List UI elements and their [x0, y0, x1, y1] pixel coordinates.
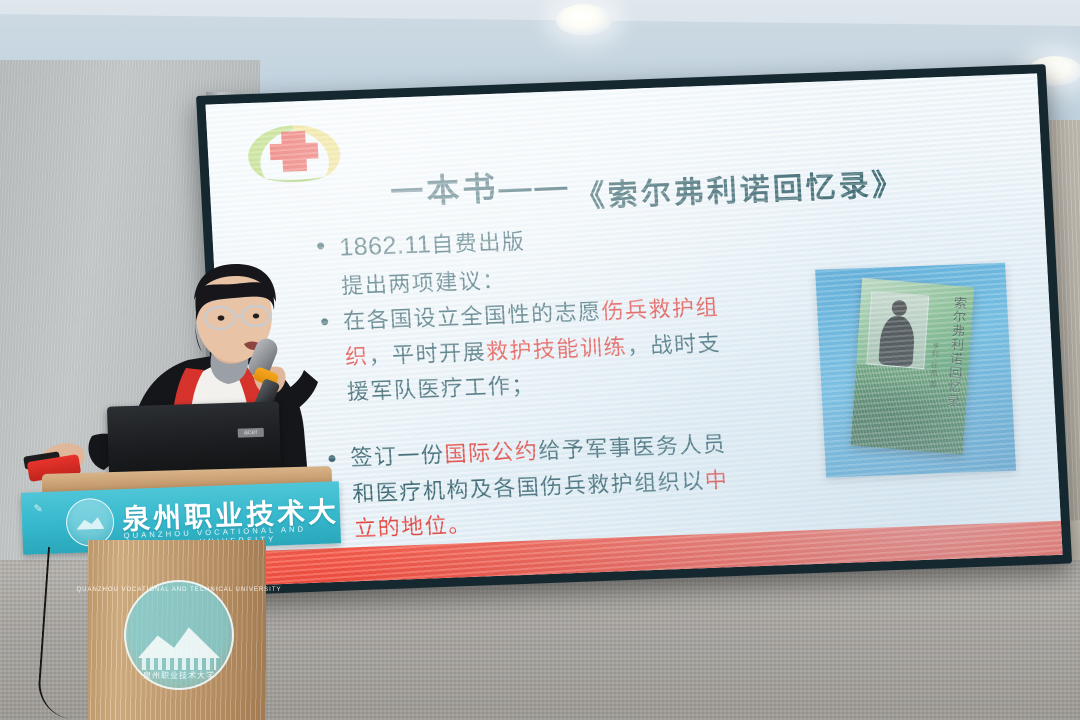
slide-text-segment: 1862.11	[339, 230, 432, 261]
laptop-brand-logo: acer	[238, 428, 264, 438]
slide-text-segment: 伤兵救护组	[601, 295, 720, 324]
slide-text-segment: 签订一份	[350, 442, 445, 470]
book-cover: 索尔弗利诺回忆录 亨利·杜南 著	[851, 278, 974, 455]
slide-title: 一本书——《索尔弗利诺回忆录》	[389, 147, 905, 214]
slide-text-segment: 自费出版	[431, 229, 526, 257]
pen-icon: ✎	[33, 502, 43, 515]
podium-body: QUANZHOU VOCATIONAL AND TECHNICAL UNIVER…	[88, 540, 266, 720]
slide-text-segment: 给予军事医务人员	[538, 431, 727, 463]
slide-text-segment: 救护技能训练	[485, 334, 627, 364]
slide-text-segment: ，战时支	[626, 330, 721, 358]
slide-text-segment: 立的地位。	[354, 512, 473, 541]
slide-text-segment: 提出两项建议：	[341, 267, 507, 298]
ceiling-downlight	[556, 4, 612, 36]
red-cross-laurel-emblem	[236, 115, 351, 185]
slide-body-text: 1862.11自费出版提出两项建议：在各国设立全国性的志愿伤兵救护组织，平时开展…	[308, 208, 885, 548]
slide-text-segment: ，平时开展	[368, 339, 487, 368]
book-cover-portrait	[866, 291, 929, 370]
lecture-hall-photo: 一本书——《索尔弗利诺回忆录》 1862.11自费出版提出两项建议：在各国设立全…	[0, 0, 1080, 720]
book-cover-photo: 索尔弗利诺回忆录 亨利·杜南 著	[815, 263, 1016, 478]
university-emblem-large: QUANZHOU VOCATIONAL AND TECHNICAL UNIVER…	[124, 580, 234, 690]
slide-title-main: 一本书——	[389, 167, 571, 211]
slide-text-segment: 织	[344, 343, 369, 369]
slide-text-segment: 中	[704, 467, 729, 493]
slide-text-segment: 援军队医疗工作；	[346, 373, 535, 405]
slide-text-segment: 国际公约	[444, 438, 539, 466]
slide-text-segment: 在各国设立全国性的志愿	[343, 299, 603, 334]
emblem-bottom-text: 泉州职业技术大学	[143, 670, 215, 681]
